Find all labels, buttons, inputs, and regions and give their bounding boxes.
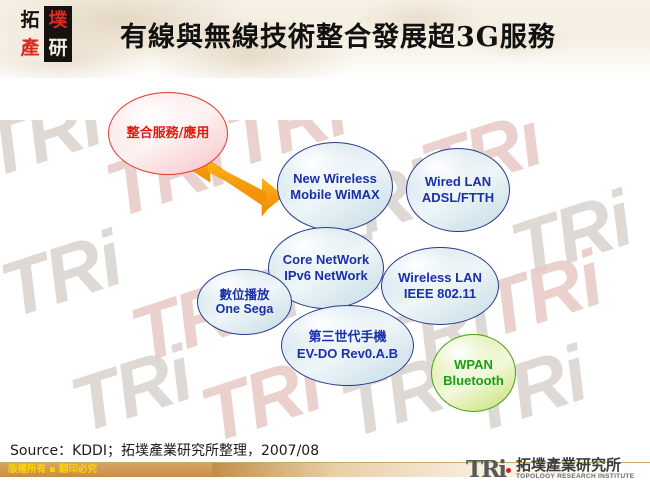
bubble-wired-lan-adsl-ftth[interactable]: Wired LAN ADSL/FTTH (406, 148, 510, 232)
bubble-wiredlan-line1: Wired LAN (422, 174, 494, 190)
watermark-text: TRi (500, 173, 642, 297)
bubble-3g-handset-evdo[interactable]: 第三世代手機 EV-DO Rev0.A.B (281, 305, 414, 386)
slide-title: 有線與無線技術整合發展超3G服務 (120, 14, 590, 62)
logo-char-3: 產 (16, 34, 44, 62)
logo-char-4: 研 (44, 34, 72, 62)
tri-wordmark: TRi (466, 458, 505, 481)
bubble-onesega-line2: One Sega (216, 302, 274, 317)
bubble-core-line2: IPv6 NetWork (283, 268, 369, 284)
bubble-wpan-line2: Bluetooth (443, 373, 504, 389)
watermark-text: TRi (0, 213, 132, 337)
bubble-wpan-line1: WPAN (443, 357, 504, 373)
bubble-wlan-line2: IEEE 802.11 (398, 286, 482, 302)
bubble-wireless-lan-ieee-802-11[interactable]: Wireless LAN IEEE 802.11 (381, 247, 499, 325)
source-line: Source：KDDI；拓墣產業研究所整理，2007/08 (10, 439, 470, 463)
tri-logo-words: 拓墣產業研究所 TOPOLOGY RESEARCH INSTITUTE (516, 458, 634, 481)
logo-char-2: 墣 (44, 6, 72, 34)
tri-chinese-name: 拓墣產業研究所 (516, 458, 634, 473)
tri-corner-logo: 拓 墣 產 研 (16, 6, 72, 62)
bubble-wimax-line2: Mobile WiMAX (290, 187, 379, 203)
tri-english-name: TOPOLOGY RESEARCH INSTITUTE (516, 474, 634, 481)
bubble-wiredlan-line2: ADSL/FTTH (422, 190, 494, 206)
logo-char-1: 拓 (16, 6, 44, 34)
tri-footer-logo: TRi 拓墣產業研究所 TOPOLOGY RESEARCH INSTITUTE (466, 455, 646, 483)
bubble-integrated-services[interactable]: 整合服務/應用 (108, 92, 228, 175)
copyright-text: 版權所有 ▪ 翻印必究 (8, 463, 97, 477)
bubble-wimax-line1: New Wireless (290, 171, 379, 187)
bubble-digital-broadcast-one-sega[interactable]: 數位播放 One Sega (197, 269, 292, 335)
bubble-core-line1: Core NetWork (283, 252, 369, 268)
tri-dot-icon (506, 468, 511, 473)
bubble-onesega-line1: 數位播放 (216, 287, 274, 302)
bubble-wlan-line1: Wireless LAN (398, 270, 482, 286)
slide-canvas: TRiTRiTRiTRiTRiTRiTRiTRiTRiTRiTRiTRiTRiT… (0, 0, 650, 485)
watermark-text: TRi (0, 120, 112, 197)
bubble-3g-line2: EV-DO Rev0.A.B (297, 346, 398, 362)
bubble-integrated-line1: 整合服務/應用 (127, 126, 210, 142)
bubble-3g-line1: 第三世代手機 (297, 330, 398, 346)
watermark-text: TRi (60, 328, 202, 450)
bubble-new-wireless-mobile-wimax[interactable]: New Wireless Mobile WiMAX (277, 142, 393, 231)
bubble-wpan-bluetooth[interactable]: WPAN Bluetooth (431, 334, 516, 412)
copyright-strip: 版權所有 ▪ 翻印必究 (0, 463, 212, 477)
